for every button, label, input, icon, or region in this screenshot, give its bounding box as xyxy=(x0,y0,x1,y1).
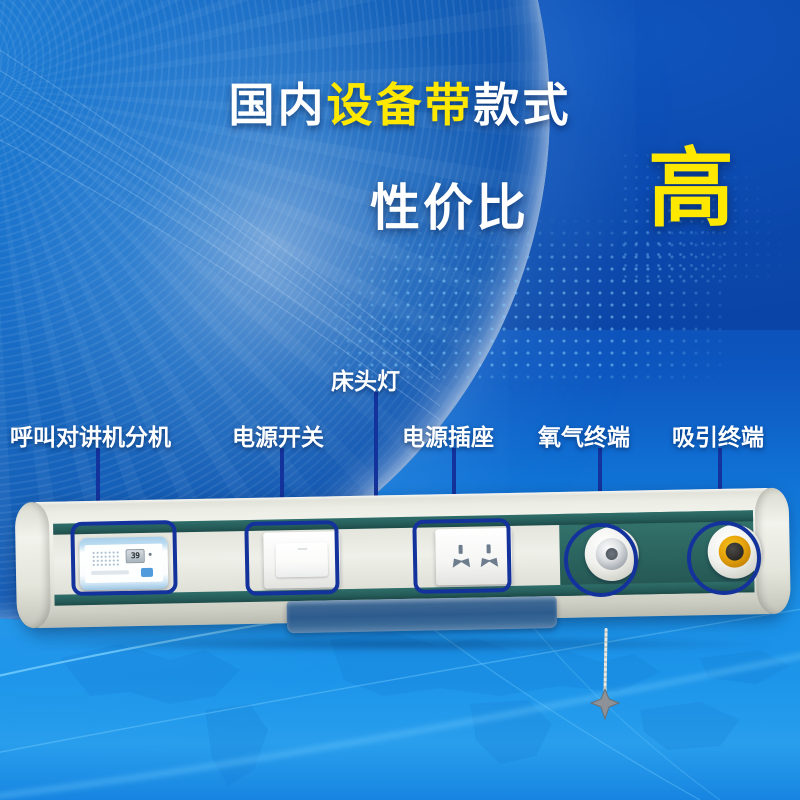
subheadline-emphasis: 高 xyxy=(648,146,734,232)
highlight-box-switch xyxy=(244,520,339,596)
headline-part-2: 设备带 xyxy=(327,79,474,131)
headline-part-1: 国内 xyxy=(229,79,327,131)
promo-image: 国内设备带款式 性价比 高 呼叫对讲机分机 电源开关 床头灯 电源插座 氧气终端… xyxy=(0,0,800,800)
panel-end-cap-left xyxy=(15,502,51,629)
highlight-box-socket xyxy=(412,518,511,594)
callout-label-intercom: 呼叫对讲机分机 xyxy=(10,418,171,452)
callout-label-socket: 电源插座 xyxy=(402,418,494,452)
callout-label-oxygen: 氧气终端 xyxy=(538,418,630,452)
callout-label-bed-light: 床头灯 xyxy=(331,362,400,396)
highlight-box-intercom xyxy=(70,520,177,596)
subheadline-text: 性价比 xyxy=(370,168,529,240)
pull-cord-plug-icon[interactable] xyxy=(586,688,624,722)
callout-label-suction: 吸引终端 xyxy=(672,418,764,452)
callout-label-switch: 电源开关 xyxy=(232,418,324,452)
bed-light-diffuser xyxy=(287,596,558,633)
highlight-box-suction xyxy=(687,521,761,595)
headline-part-3: 款式 xyxy=(474,79,572,131)
headline: 国内设备带款式 xyxy=(0,82,800,128)
subheadline: 性价比 高 xyxy=(0,168,800,238)
highlight-box-oxygen xyxy=(564,523,638,597)
